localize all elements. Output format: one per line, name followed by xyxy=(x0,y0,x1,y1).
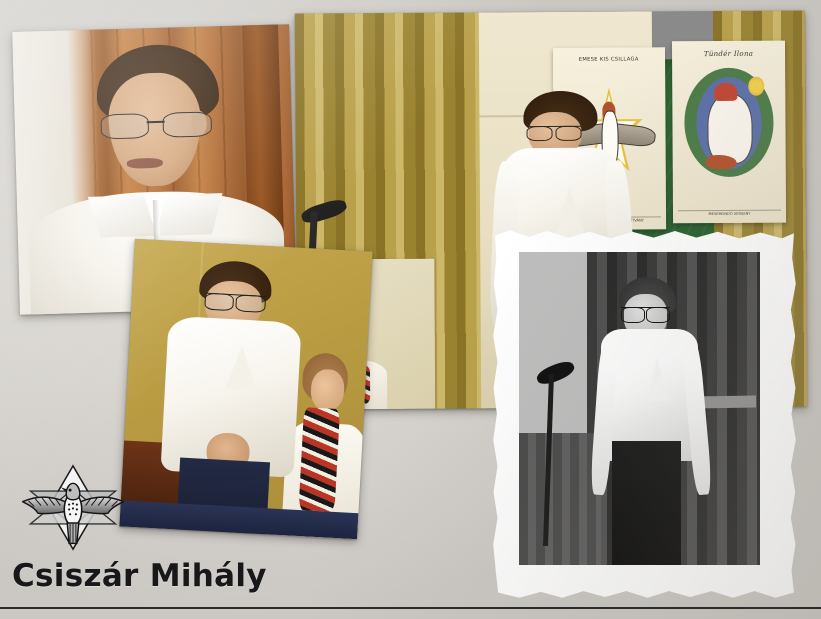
girl-face xyxy=(310,369,345,411)
photo-boy-and-girl-scene xyxy=(119,239,372,539)
shirt-collar-right xyxy=(156,193,223,236)
glasses-lens-left xyxy=(100,113,149,139)
girl-folk-scarf xyxy=(299,407,340,512)
turul-star-logo xyxy=(14,462,132,554)
glasses-lens-right xyxy=(163,111,212,137)
boy-glasses xyxy=(100,111,211,137)
bottom-divider xyxy=(0,607,821,609)
boy-with-clasped-hands xyxy=(157,258,305,539)
page-title: Csiszár Mihály xyxy=(12,558,267,594)
standing-boy-glasses xyxy=(526,126,582,137)
black-and-white-photo xyxy=(519,252,760,564)
shirt-collar-left xyxy=(88,195,157,237)
bw-wood-panel xyxy=(519,433,601,564)
boy3-glasses xyxy=(204,293,266,307)
bw-boy-glasses xyxy=(621,307,670,317)
bw-standing-boy xyxy=(599,277,700,564)
turul-star-logo-icon xyxy=(14,462,132,554)
photo-boy-and-girl[interactable] xyxy=(119,239,372,539)
photo-collage-page: EMESE KIS CSILLAGA KÖZHASZNÚ KULTURÁLIS … xyxy=(0,0,821,619)
photo-bw-framed[interactable] xyxy=(492,228,797,600)
bw-boy-trousers xyxy=(612,441,681,565)
microphone-icon xyxy=(300,197,349,226)
